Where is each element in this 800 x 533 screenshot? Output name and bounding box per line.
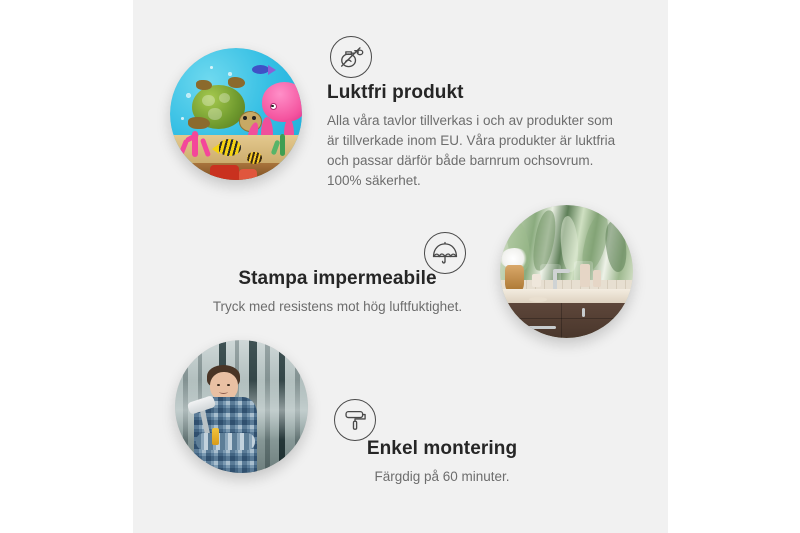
- bathroom-interior-photo: [500, 205, 633, 338]
- feature-description: Alla våra tavlor tillverkas i och av pro…: [327, 111, 627, 191]
- paint-roller-icon: [334, 399, 376, 441]
- image-alt-3: Leende kvinna med målarrulle framför sko…: [0, 0, 1, 1]
- image-alt-1: Rund tavla med undervattensmotiv: sköldp…: [0, 0, 1, 1]
- image-alt-2: Badrum med grön bladtapet, träskåp och s…: [0, 0, 1, 1]
- feature-title: Luktfri produkt: [327, 81, 627, 105]
- underwater-kids-artwork-photo: [170, 48, 302, 180]
- feature-block-odorless: Luktfri produkt Alla våra tavlor tillver…: [327, 81, 627, 191]
- infographic-root: Luktfri produkt Alla våra tavlor tillver…: [0, 0, 800, 533]
- feature-description: Färgdig på 60 minuter.: [327, 467, 557, 487]
- no-scent-icon: [330, 36, 372, 78]
- feature-title: Enkel montering: [327, 437, 557, 461]
- woman-with-paint-roller-forest-photo: [175, 340, 308, 473]
- feature-title: Stampa impermeabile: [205, 267, 470, 291]
- feature-block-waterproof: Stampa impermeabile Tryck med resistens …: [205, 267, 470, 317]
- feature-block-easy-mounting: Enkel montering Färgdig på 60 minuter.: [327, 437, 557, 487]
- feature-description: Tryck med resistens mot hög luftfuktighe…: [205, 297, 470, 317]
